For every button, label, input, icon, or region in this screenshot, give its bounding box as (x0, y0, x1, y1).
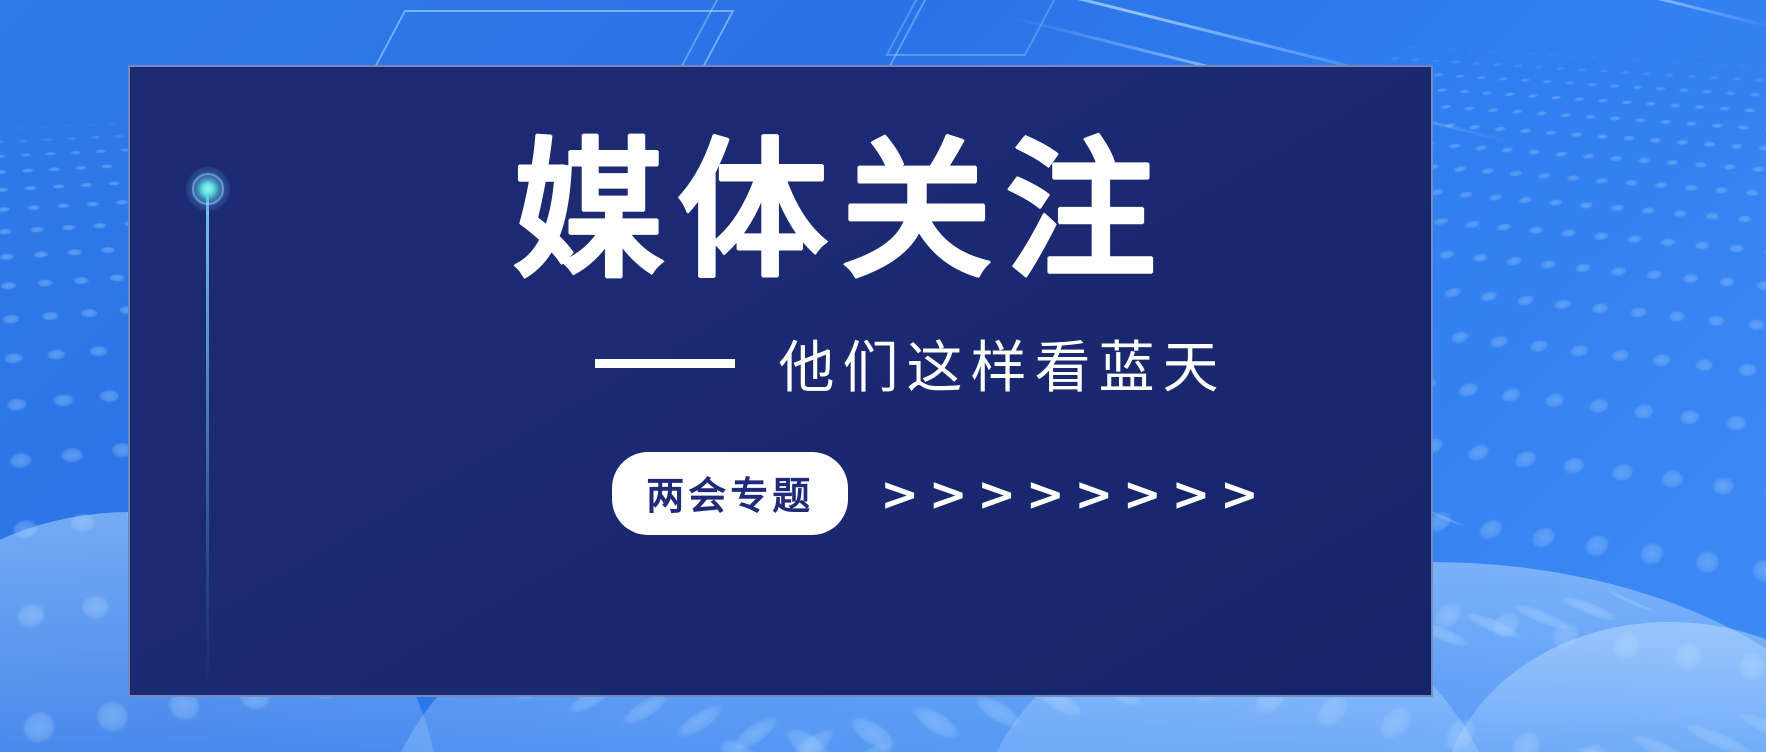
banner-content: 媒体关注 他们这样看蓝天 两会专题 > > > > > > > > (130, 67, 1431, 695)
chevron-right-icon: > (1026, 471, 1065, 517)
diagonal-streak-icon (1484, 0, 1766, 29)
chevron-right-icon: > (977, 471, 1016, 517)
chevron-arrow-group: > > > > > > > > (880, 471, 1258, 517)
navy-panel: 媒体关注 他们这样看蓝天 两会专题 > > > > > > > > (128, 65, 1433, 697)
bottom-wave-shape (1440, 622, 1766, 752)
page-title: 媒体关注 (360, 137, 1341, 287)
chevron-right-icon: > (1220, 471, 1259, 517)
chevron-right-icon: > (1075, 471, 1114, 517)
chevron-right-icon: > (929, 471, 968, 517)
chevron-right-icon: > (880, 471, 919, 517)
horizontal-rule-icon (595, 359, 735, 368)
chevron-right-icon: > (1172, 471, 1211, 517)
subtitle-text: 他们这样看蓝天 (779, 323, 1227, 404)
outlined-parallelogram-shape (885, 0, 1064, 56)
topic-badge[interactable]: 两会专题 (612, 452, 848, 535)
media-attention-banner: 媒体关注 他们这样看蓝天 两会专题 > > > > > > > > (0, 0, 1766, 752)
cta-row: 两会专题 > > > > > > > > (360, 452, 1341, 535)
chevron-right-icon: > (1123, 471, 1162, 517)
subtitle-row: 他们这样看蓝天 (360, 323, 1341, 404)
